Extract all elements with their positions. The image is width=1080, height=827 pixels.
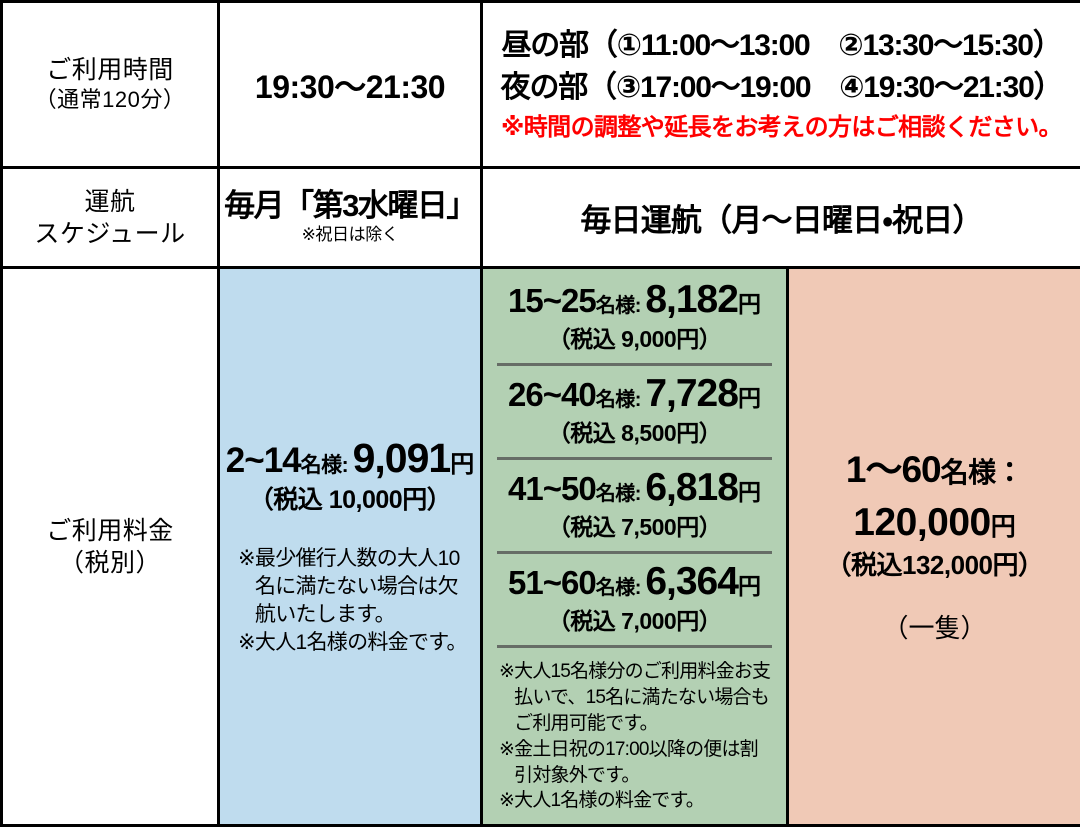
schedule-monthly-sub: ※祝日は除く: [220, 224, 480, 246]
hours-monthly-time: 19:30〜21:30: [255, 69, 445, 105]
schedule-monthly-cell: 毎月「第3水曜日」 ※祝日は除く: [219, 168, 482, 268]
fare-tier-price: 6,818: [645, 466, 738, 509]
row-header-schedule: 運航 スケジュール: [2, 168, 219, 268]
schedule-daily-main: 毎日運航（月〜日曜日・祝日）: [580, 203, 982, 238]
list-item: ※ 金土日祝の17:00以降の便は割引対象外です。: [499, 737, 776, 789]
fare-cell-daily-group: 15~25名様: 8,182円 （税込 9,000円） 26~40名様: 7,7…: [482, 268, 788, 826]
fare-tier-range: 51~60: [508, 564, 596, 601]
note-mark-icon: ※: [238, 545, 255, 573]
note-text: 最少催行人数の大人10名に満たない場合は欠航いたします。: [255, 545, 470, 629]
fare-pink-range: 1〜60: [846, 449, 941, 490]
hours-day-session: 昼の部（①11:00〜13:00 ②13:30〜15:30）: [483, 25, 1080, 68]
fare-pane-green: 15~25名様: 8,182円 （税込 9,000円） 26~40名様: 7,7…: [483, 269, 786, 824]
fare-tier-tax-line: （税込 9,000円）: [483, 323, 786, 355]
fare-pink-unit: 名様：: [941, 457, 1024, 488]
table-row-hours: ご利用時間 （通常120分） 19:30〜21:30 昼の部（①11:00〜13…: [2, 2, 1080, 168]
fare-tier-price: 7,728: [645, 372, 738, 415]
fare-tier-tax-line: （税込 7,500円）: [483, 511, 786, 543]
row-header-schedule-line1: 運航: [3, 186, 217, 218]
note-mark-icon: ※: [499, 737, 514, 763]
table-row-fare: ご利用料金 （税別） 2~14名様: 9,091円 （税込 10,000円） ※…: [2, 268, 1080, 826]
fare-blue-unit: 名様:: [301, 454, 349, 477]
fare-tier-range: 41~50: [508, 470, 596, 507]
fare-tier-yen: 円: [738, 573, 761, 599]
fare-tier-unit: 名様:: [596, 389, 641, 411]
fare-blue-yen: 円: [450, 451, 474, 478]
row-header-hours-main: ご利用時間: [3, 54, 217, 86]
fare-tier: 26~40名様: 7,728円 （税込 8,500円）: [483, 363, 786, 457]
note-text: 大人1名様の料金です。: [514, 788, 776, 814]
hours-monthly-cell: 19:30〜21:30: [219, 2, 482, 168]
fare-pane-pink: 1〜60名様： 120,000円 （税込132,000円） （一隻）: [789, 269, 1080, 824]
schedule-monthly-main: 毎月「第3水曜日」: [220, 189, 480, 224]
fare-green-notes: ※ 大人15名様分のご利用料金お支払いで、15名に満たない場合もご利用可能です。…: [483, 645, 786, 824]
fare-pink-yen: 円: [991, 513, 1016, 541]
row-header-fare: ご利用料金 （税別）: [2, 268, 219, 826]
fare-blue-price: 9,091: [353, 435, 451, 481]
fare-tier-yen: 円: [738, 291, 761, 317]
note-text: 金土日祝の17:00以降の便は割引対象外です。: [514, 737, 776, 789]
fare-tier: 51~60名様: 6,364円 （税込 7,000円）: [483, 551, 786, 645]
fare-pink-vessel-note: （一隻）: [882, 608, 986, 645]
list-item: ※ 大人1名様の料金です。: [499, 788, 776, 814]
fare-tier: 41~50名様: 6,818円 （税込 7,500円）: [483, 457, 786, 551]
fare-tier-range: 15~25: [508, 282, 596, 319]
note-text: 大人1名様の料金です。: [255, 629, 470, 657]
fare-tier-range: 26~40: [508, 376, 596, 413]
note-mark-icon: ※: [499, 659, 514, 685]
fare-cell-monthly: 2~14名様: 9,091円 （税込 10,000円） ※ 最少催行人数の大人1…: [219, 268, 482, 826]
list-item: ※ 最少催行人数の大人10名に満たない場合は欠航いたします。: [238, 545, 470, 629]
hours-daily-cell: 昼の部（①11:00〜13:00 ②13:30〜15:30） 夜の部（③17:0…: [482, 2, 1080, 168]
fare-pink-headline: 1〜60名様：: [846, 448, 1023, 492]
fare-tier-yen: 円: [738, 385, 761, 411]
fare-blue-tax-line: （税込 10,000円）: [226, 482, 474, 520]
fare-pink-price: 120,000: [853, 501, 990, 544]
schedule-daily-cell: 毎日運航（月〜日曜日・祝日）: [482, 168, 1080, 268]
list-item: ※ 大人15名様分のご利用料金お支払いで、15名に満たない場合もご利用可能です。: [499, 659, 776, 736]
hours-red-note: ※時間の調整や延長をお考えの方はご相談ください。: [483, 112, 1080, 144]
row-header-schedule-line2: スケジュール: [3, 218, 217, 250]
note-mark-icon: ※: [499, 788, 514, 814]
fare-tier-price: 6,364: [645, 560, 738, 603]
list-item: ※ 大人1名様の料金です。: [238, 629, 470, 657]
fare-tier-unit: 名様:: [596, 483, 641, 505]
row-header-fare-main: ご利用料金: [3, 515, 217, 547]
fare-pink-tax-line: （税込132,000円）: [826, 549, 1044, 583]
fare-tier-price: 8,182: [645, 278, 738, 321]
fare-tier-unit: 名様:: [596, 295, 641, 317]
fare-blue-notes: ※ 最少催行人数の大人10名に満たない場合は欠航いたします。 ※ 大人1名様の料…: [230, 545, 470, 657]
fare-pane-blue: 2~14名様: 9,091円 （税込 10,000円） ※ 最少催行人数の大人1…: [220, 269, 480, 824]
row-header-fare-sub: （税別）: [3, 547, 217, 579]
fare-tier: 15~25名様: 8,182円 （税込 9,000円）: [483, 269, 786, 363]
fare-blue-range: 2~14: [226, 441, 301, 480]
pricing-table: ご利用時間 （通常120分） 19:30〜21:30 昼の部（①11:00〜13…: [0, 0, 1080, 827]
fare-blue-headline: 2~14名様: 9,091円 （税込 10,000円）: [226, 436, 474, 519]
fare-tier-unit: 名様:: [596, 577, 641, 599]
fare-cell-charter: 1〜60名様： 120,000円 （税込132,000円） （一隻）: [788, 268, 1080, 826]
note-mark-icon: ※: [238, 629, 255, 657]
row-header-hours-sub: （通常120分）: [3, 86, 217, 115]
table-row-schedule: 運航 スケジュール 毎月「第3水曜日」 ※祝日は除く 毎日運航（月〜日曜日・祝日…: [2, 168, 1080, 268]
fare-tier-tax-line: （税込 8,500円）: [483, 417, 786, 449]
fare-tier-tax-line: （税込 7,000円）: [483, 605, 786, 637]
note-text: 大人15名様分のご利用料金お支払いで、15名に満たない場合もご利用可能です。: [514, 659, 776, 736]
hours-night-session: 夜の部（③17:00〜19:00 ④19:30〜21:30）: [483, 67, 1080, 110]
fare-tier-yen: 円: [738, 479, 761, 505]
fare-pink-price-line: 120,000円: [853, 498, 1016, 549]
row-header-hours: ご利用時間 （通常120分）: [2, 2, 219, 168]
